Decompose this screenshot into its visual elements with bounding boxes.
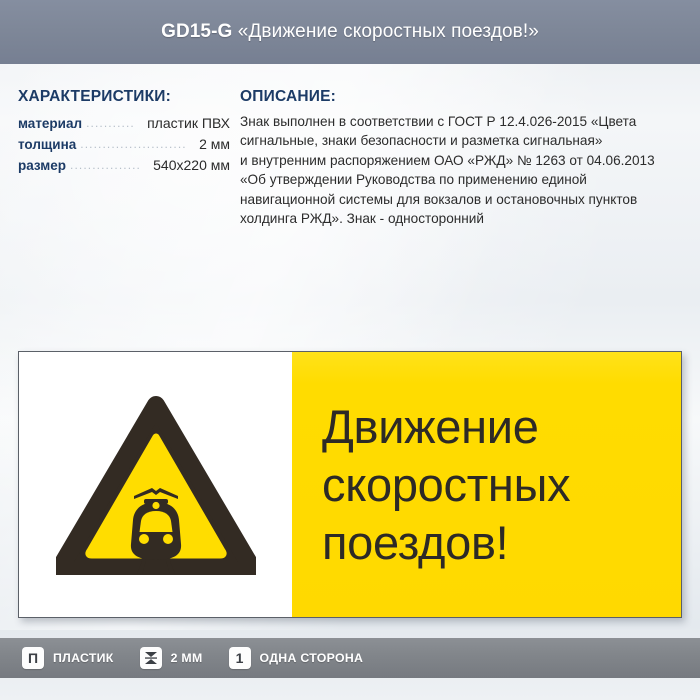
description-text: Знак выполнен в соответствии с ГОСТ Р 12… (240, 112, 685, 228)
spec-leader: ........................ (80, 134, 195, 154)
spec-value: 2 мм (199, 134, 230, 154)
description-block: ОПИСАНИЕ: Знак выполнен в соответствии с… (240, 88, 685, 228)
description-line: Знак выполнен в соответствии с ГОСТ Р 12… (240, 112, 685, 131)
sign-text-line: скоростных (322, 456, 570, 514)
spec-value: пластик ПВХ (147, 113, 230, 133)
sign-pictogram-area (19, 352, 292, 617)
footer-label: ОДНА СТОРОНА (260, 651, 364, 665)
sign-preview: Движение скоростных поездов! (18, 351, 682, 618)
footer-item-one-side: 1 ОДНА СТОРОНА (229, 647, 364, 669)
spec-value: 540х220 мм (153, 155, 230, 175)
spec-label: толщина (18, 135, 76, 155)
spec-label: размер (18, 156, 66, 176)
product-card: GD15-G «Движение скоростных поездов!» ХА… (0, 0, 700, 700)
one-side-icon: 1 (229, 647, 251, 669)
spec-row-material: материал ........... пластик ПВХ (18, 113, 230, 134)
specs-heading: ХАРАКТЕРИСТИКИ: (18, 88, 230, 106)
thickness-icon (140, 647, 162, 669)
page-header: GD15-G «Движение скоростных поездов!» (0, 0, 700, 64)
footer-item-plastic: П ПЛАСТИК (22, 647, 114, 669)
page-title: GD15-G «Движение скоростных поездов!» (161, 21, 539, 43)
one-side-icon-glyph: 1 (236, 651, 244, 665)
sign-text-area: Движение скоростных поездов! (292, 352, 681, 617)
sign-text-line: поездов! (322, 514, 508, 572)
spec-row-thickness: толщина ........................ 2 мм (18, 134, 230, 155)
warning-triangle-train-icon (56, 395, 256, 575)
footer-label: 2 ММ (171, 651, 203, 665)
description-line: сигнальные, знаки безопасности и разметк… (240, 131, 685, 150)
footer-bar: П ПЛАСТИК 2 ММ 1 ОДНА СТОРОНА (0, 638, 700, 678)
description-line: навигационной системы для вокзалов и ост… (240, 190, 685, 209)
plastic-icon-glyph: П (28, 651, 38, 665)
spec-row-size: размер ................ 540х220 мм (18, 155, 230, 176)
thickness-icon-glyph (143, 650, 159, 666)
product-name: «Движение скоростных поездов!» (238, 21, 539, 42)
footer-item-thickness: 2 ММ (140, 647, 203, 669)
spec-leader: ................ (70, 155, 149, 175)
description-line: «Об утверждении Руководства по применени… (240, 170, 685, 189)
specs-block: ХАРАКТЕРИСТИКИ: материал ........... пла… (18, 88, 230, 176)
description-heading: ОПИСАНИЕ: (240, 88, 685, 106)
footer-label: ПЛАСТИК (53, 651, 114, 665)
spec-label: материал (18, 114, 82, 134)
description-line: и внутренним распоряжением ОАО «РЖД» № 1… (240, 151, 685, 170)
description-line: холдинга РЖД». Знак - односторонний (240, 209, 685, 228)
spec-leader: ........... (86, 113, 143, 133)
sign-text-line: Движение (322, 398, 539, 456)
plastic-icon: П (22, 647, 44, 669)
product-code: GD15-G (161, 21, 232, 42)
